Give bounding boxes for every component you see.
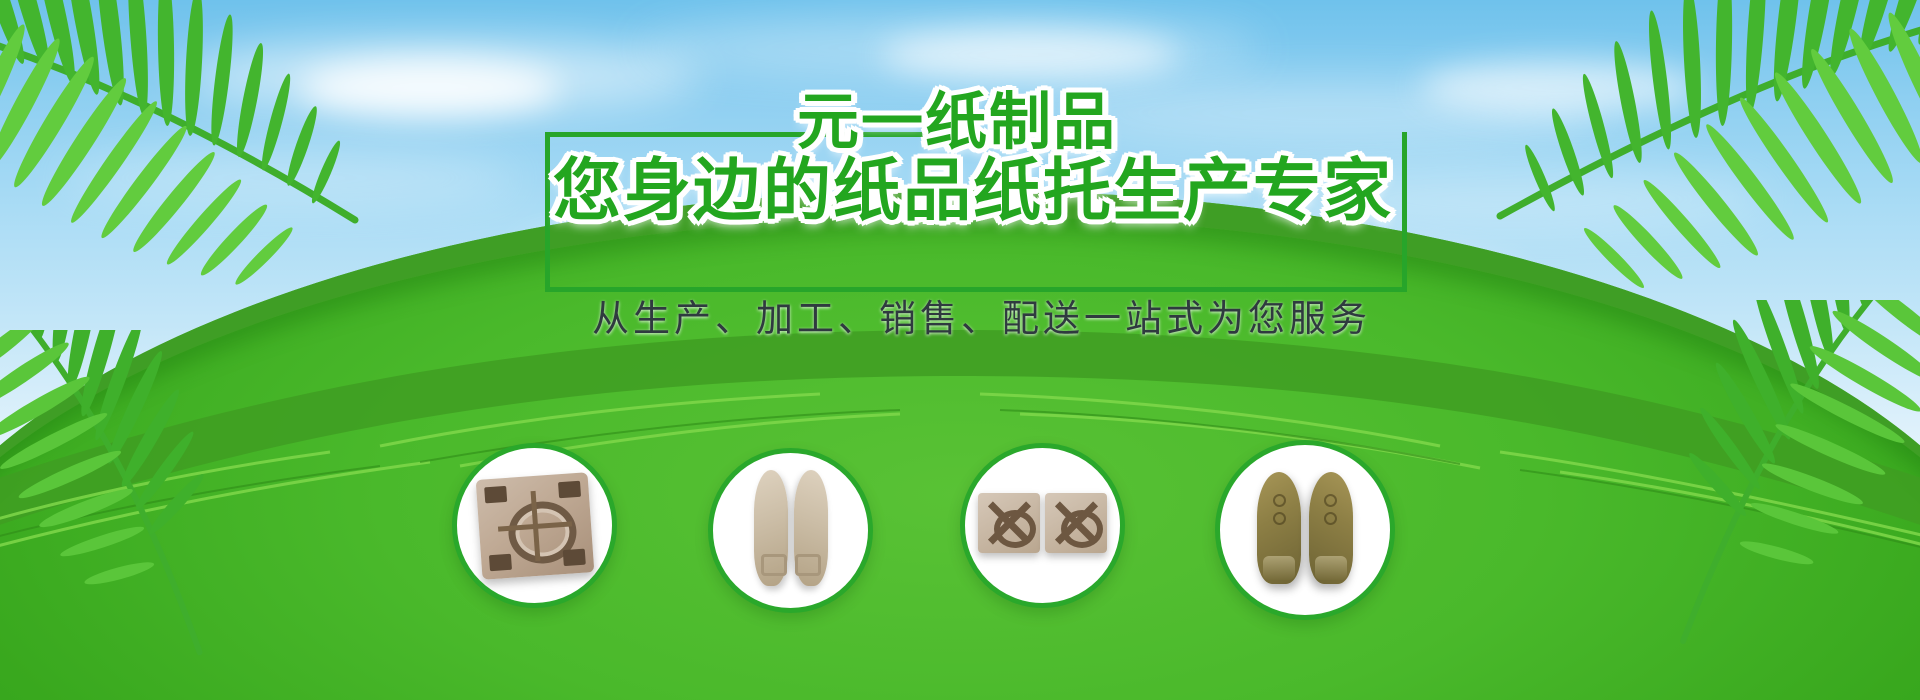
product-circle-molded-pulp-square-tray[interactable] [452,443,617,608]
product-circle-molded-pulp-corner-blocks[interactable] [960,443,1125,608]
product-circle-paper-pulp-insoles[interactable] [708,448,873,613]
molded-pulp-square-tray-image [475,472,594,580]
product-circle-group [0,0,1920,700]
promo-banner: 元一纸制品 您身边的纸品纸托生产专家 从生产、加工、销售、配送一站式为您服务 [0,0,1920,700]
paper-pulp-insoles-image [754,470,828,591]
molded-pulp-corner-blocks-image [978,493,1107,558]
molded-pulp-shoe-forms-image [1257,472,1353,589]
product-circle-molded-pulp-shoe-forms[interactable] [1215,440,1395,620]
